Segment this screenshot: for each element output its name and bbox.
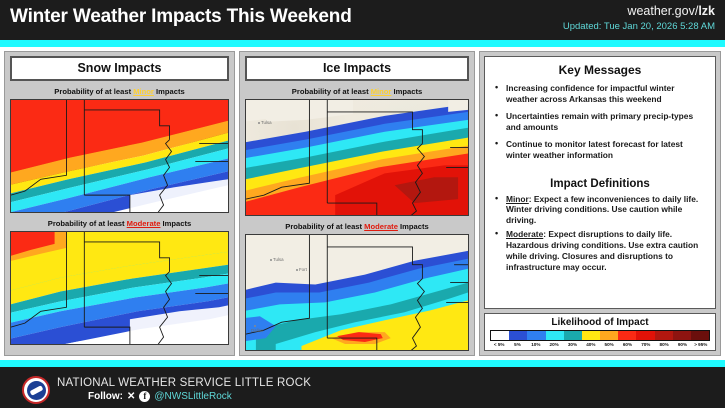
legend-title: Likelihood of Impact [490, 317, 710, 328]
impact-tier-moderate: Moderate [364, 222, 398, 231]
legend-swatch [564, 331, 582, 340]
impact-tier-minor: Minor [371, 87, 392, 96]
page-title: Winter Weather Impacts This Weekend [10, 6, 352, 28]
map-snow-moderate[interactable] [10, 231, 229, 345]
map-borders [11, 232, 228, 345]
city-label-fort: Fort [299, 267, 307, 272]
definition-term-moderate: Moderate [506, 229, 543, 239]
accent-bar-top [0, 40, 725, 47]
map-block-snow-moderate: Probability of at least Moderate Impacts [10, 219, 229, 345]
footer-social: Follow: ✕ f @NWSLittleRock [88, 391, 232, 402]
site-url-prefix: weather.gov/ [627, 4, 698, 18]
city-dot [270, 259, 272, 261]
content-area: Snow Impacts Probability of at least Min… [0, 47, 725, 360]
legend-swatch [691, 331, 709, 340]
impact-definition-item: Minor: Expect a few inconveniences to da… [493, 194, 707, 227]
legend-tick: 70% [637, 342, 655, 347]
legend-swatch [636, 331, 654, 340]
legend-tick: 5% [508, 342, 526, 347]
definition-text: : Expect a few inconveniences to daily l… [506, 194, 698, 226]
legend-swatch [527, 331, 545, 340]
impact-definition-item: Moderate: Expect disruptions to daily li… [493, 229, 707, 273]
map-subtitle-snow-minor: Probability of at least Minor Impacts [10, 87, 229, 96]
footer-office-name: NATIONAL WEATHER SERVICE LITTLE ROCK [57, 377, 311, 389]
weather-graphic: Winter Weather Impacts This Weekend weat… [0, 0, 725, 408]
map-ice-moderate[interactable]: Tulsa Fort Dallas [245, 234, 469, 351]
follow-label: Follow: [88, 391, 123, 402]
map-block-ice-moderate: Probability of at least Moderate Impacts [245, 222, 469, 351]
site-url-office: lzk [698, 4, 715, 18]
legend-swatch [618, 331, 636, 340]
key-message-item: Increasing confidence for impactful wint… [493, 83, 707, 105]
map-borders [11, 100, 228, 213]
city-label-tulsa: Tulsa [261, 120, 272, 125]
header-meta: weather.gov/lzk Updated: Tue Jan 20, 202… [563, 4, 715, 32]
nws-seal-inner [27, 381, 46, 400]
impact-definitions-list: Minor: Expect a few inconveniences to da… [493, 194, 707, 276]
legend-color-bar [490, 330, 710, 341]
panel-info: Key Messages Increasing confidence for i… [479, 51, 721, 356]
legend-swatch [655, 331, 673, 340]
map-snow-minor[interactable] [10, 99, 229, 213]
subtitle-suffix: Impacts [154, 87, 185, 96]
subtitle-suffix: Impacts [160, 219, 191, 228]
legend-tick: 20% [545, 342, 563, 347]
map-block-snow-minor: Probability of at least Minor Impacts [10, 87, 229, 213]
heading-impact-definitions: Impact Definitions [493, 178, 707, 190]
map-subtitle-ice-minor: Probability of at least Minor Impacts [245, 87, 469, 96]
accent-bar-bottom [0, 360, 725, 367]
updated-timestamp: Updated: Tue Jan 20, 2026 5:28 AM [563, 21, 715, 32]
legend-swatch [491, 331, 509, 340]
key-message-item: Continue to monitor latest forecast for … [493, 139, 707, 161]
legend-swatch [673, 331, 691, 340]
legend-tick: > 95% [692, 342, 710, 347]
city-dot [258, 122, 260, 124]
impact-tier-moderate: Moderate [127, 219, 161, 228]
subtitle-prefix: Probability of at least [48, 219, 127, 228]
legend-likelihood: Likelihood of Impact < 5% [484, 313, 716, 351]
legend-tick: 60% [618, 342, 636, 347]
header-bar: Winter Weather Impacts This Weekend weat… [0, 0, 725, 40]
legend-tick: < 5% [490, 342, 508, 347]
panel-snow-impacts: Snow Impacts Probability of at least Min… [4, 51, 235, 356]
legend-tick: 40% [582, 342, 600, 347]
city-dot [296, 269, 298, 271]
key-messages-list: Increasing confidence for impactful wint… [493, 83, 707, 168]
legend-tick: 10% [527, 342, 545, 347]
legend-tick: 90% [673, 342, 691, 347]
panel-title-ice: Ice Impacts [245, 56, 469, 81]
subtitle-suffix: Impacts [398, 222, 429, 231]
heading-key-messages: Key Messages [493, 63, 707, 77]
social-handle[interactable]: @NWSLittleRock [154, 391, 231, 402]
city-label-tulsa: Tulsa [273, 257, 284, 262]
subtitle-suffix: Impacts [391, 87, 422, 96]
legend-tick: 50% [600, 342, 618, 347]
definition-term-minor: Minor [506, 194, 529, 204]
subtitle-prefix: Probability of at least [285, 222, 364, 231]
map-subtitle-snow-moderate: Probability of at least Moderate Impacts [10, 219, 229, 228]
map-ice-minor[interactable]: Tulsa [245, 99, 469, 216]
legend-swatch [546, 331, 564, 340]
city-dot [254, 325, 256, 327]
x-twitter-icon[interactable]: ✕ [127, 391, 135, 402]
subtitle-prefix: Probability of at least [54, 87, 133, 96]
legend-swatch [509, 331, 527, 340]
map-borders [246, 235, 468, 351]
legend-tick: 30% [563, 342, 581, 347]
map-block-ice-minor: Probability of at least Minor Impacts [245, 87, 469, 216]
legend-tick: 80% [655, 342, 673, 347]
legend-swatch [582, 331, 600, 340]
panel-title-snow: Snow Impacts [10, 56, 229, 81]
map-subtitle-ice-moderate: Probability of at least Moderate Impacts [245, 222, 469, 231]
facebook-icon[interactable]: f [139, 391, 150, 402]
key-message-item: Uncertainties remain with primary precip… [493, 111, 707, 133]
nws-logo-icon [22, 376, 50, 404]
impact-tier-minor: Minor [133, 87, 154, 96]
panel-ice-impacts: Ice Impacts Probability of at least Mino… [239, 51, 475, 356]
legend-tick-labels: < 5% 5% 10% 20% 30% 40% 50% 60% 70% 80% … [490, 342, 710, 347]
legend-swatch [600, 331, 618, 340]
card-messages-and-definitions: Key Messages Increasing confidence for i… [484, 56, 716, 309]
city-label-dallas: Dallas [251, 328, 263, 333]
site-url: weather.gov/lzk [563, 4, 715, 18]
subtitle-prefix: Probability of at least [292, 87, 371, 96]
map-borders [246, 100, 468, 216]
